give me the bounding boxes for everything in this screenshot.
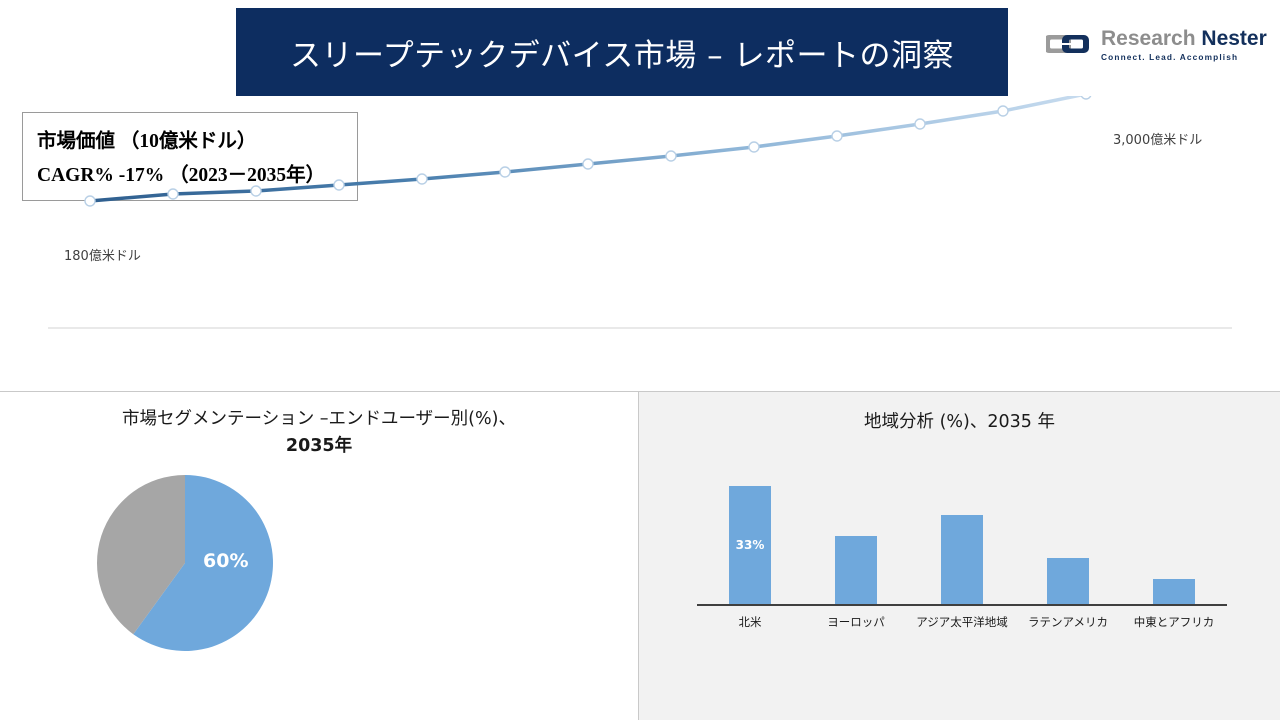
bar-chart-title: 地域分析 (%)、2035 年 [639,408,1280,433]
research-nester-logo-icon [1046,30,1092,60]
line-chart-canvas [0,96,1280,391]
region-tick-label: アジア太平洋地域 [909,614,1015,630]
bar-value-label: 33% [736,538,765,552]
region-tick-label: 北米 [697,614,803,630]
bar-chart-baseline [697,604,1227,606]
line-data-point [998,106,1008,116]
bar-column: 33% [720,472,780,604]
logo-word-nester: Nester [1201,27,1266,50]
line-data-point [1081,96,1091,99]
pie-title-line-1: 市場セグメンテーション –エンドユーザー別(%)、 [122,409,516,429]
bar[interactable] [941,515,983,604]
line-data-point [85,196,95,206]
bar[interactable] [1047,558,1089,604]
line-series-markers [85,96,1174,206]
bar-column [1038,472,1098,604]
line-data-point [832,131,842,141]
infographic-page: スリープテックデバイス市場 – レポートの洞察 Research Nester … [0,0,1280,720]
bar-chart-x-axis: 北米ヨーロッパアジア太平洋地域ラテンアメリカ中東とアフリカ [697,614,1227,630]
pie-chart-canvas [92,474,278,652]
bar-column [1144,472,1204,604]
region-tick-label: ヨーロッパ [803,614,909,630]
logo-tagline: Connect. Lead. Accomplish [1101,53,1267,61]
pie-title-line-2: 2035年 [286,436,352,456]
line-data-point [417,174,427,184]
line-data-point [915,119,925,129]
logo-wordmark: Research Nester [1101,28,1267,49]
regional-analysis-panel: 地域分析 (%)、2035 年 33% 北米ヨーロッパアジア太平洋地域ラテンアメ… [639,392,1280,720]
line-data-point [168,189,178,199]
region-tick-label: ラテンアメリカ [1015,614,1121,630]
header-bar: スリープテックデバイス市場 – レポートの洞察 [236,8,1008,96]
line-data-point [334,180,344,190]
line-data-point [500,167,510,177]
logo-text-block: Research Nester Connect. Lead. Accomplis… [1101,28,1267,61]
market-value-line-chart: 180億米ドル 3,000億米ドル 2022年2023年2024年2025年20… [0,96,1280,391]
region-tick-label: 中東とアフリカ [1121,614,1227,630]
line-start-value-label: 180億米ドル [64,245,141,264]
segmentation-panel: 市場セグメンテーション –エンドユーザー別(%)、 2035年 60% 病院在宅… [0,392,638,720]
bar-chart-plot-area: 33% [697,472,1227,604]
bar-column [932,472,992,604]
line-end-value-label: 3,000億米ドル [1113,129,1202,148]
page-title: スリープテックデバイス市場 – レポートの洞察 [290,30,954,75]
line-data-point [583,159,593,169]
bar[interactable]: 33% [729,486,771,604]
logo-word-research: Research [1101,27,1196,50]
line-data-point [749,142,759,152]
pie-slice-value-label: 60% [203,550,248,572]
line-data-point [666,151,676,161]
bar[interactable] [835,536,877,604]
bar-column [826,472,886,604]
pie-chart [92,474,278,652]
brand-logo: Research Nester Connect. Lead. Accomplis… [1046,28,1267,61]
pie-chart-title: 市場セグメンテーション –エンドユーザー別(%)、 2035年 [0,406,638,460]
line-data-point [251,186,261,196]
bar[interactable] [1153,579,1195,604]
